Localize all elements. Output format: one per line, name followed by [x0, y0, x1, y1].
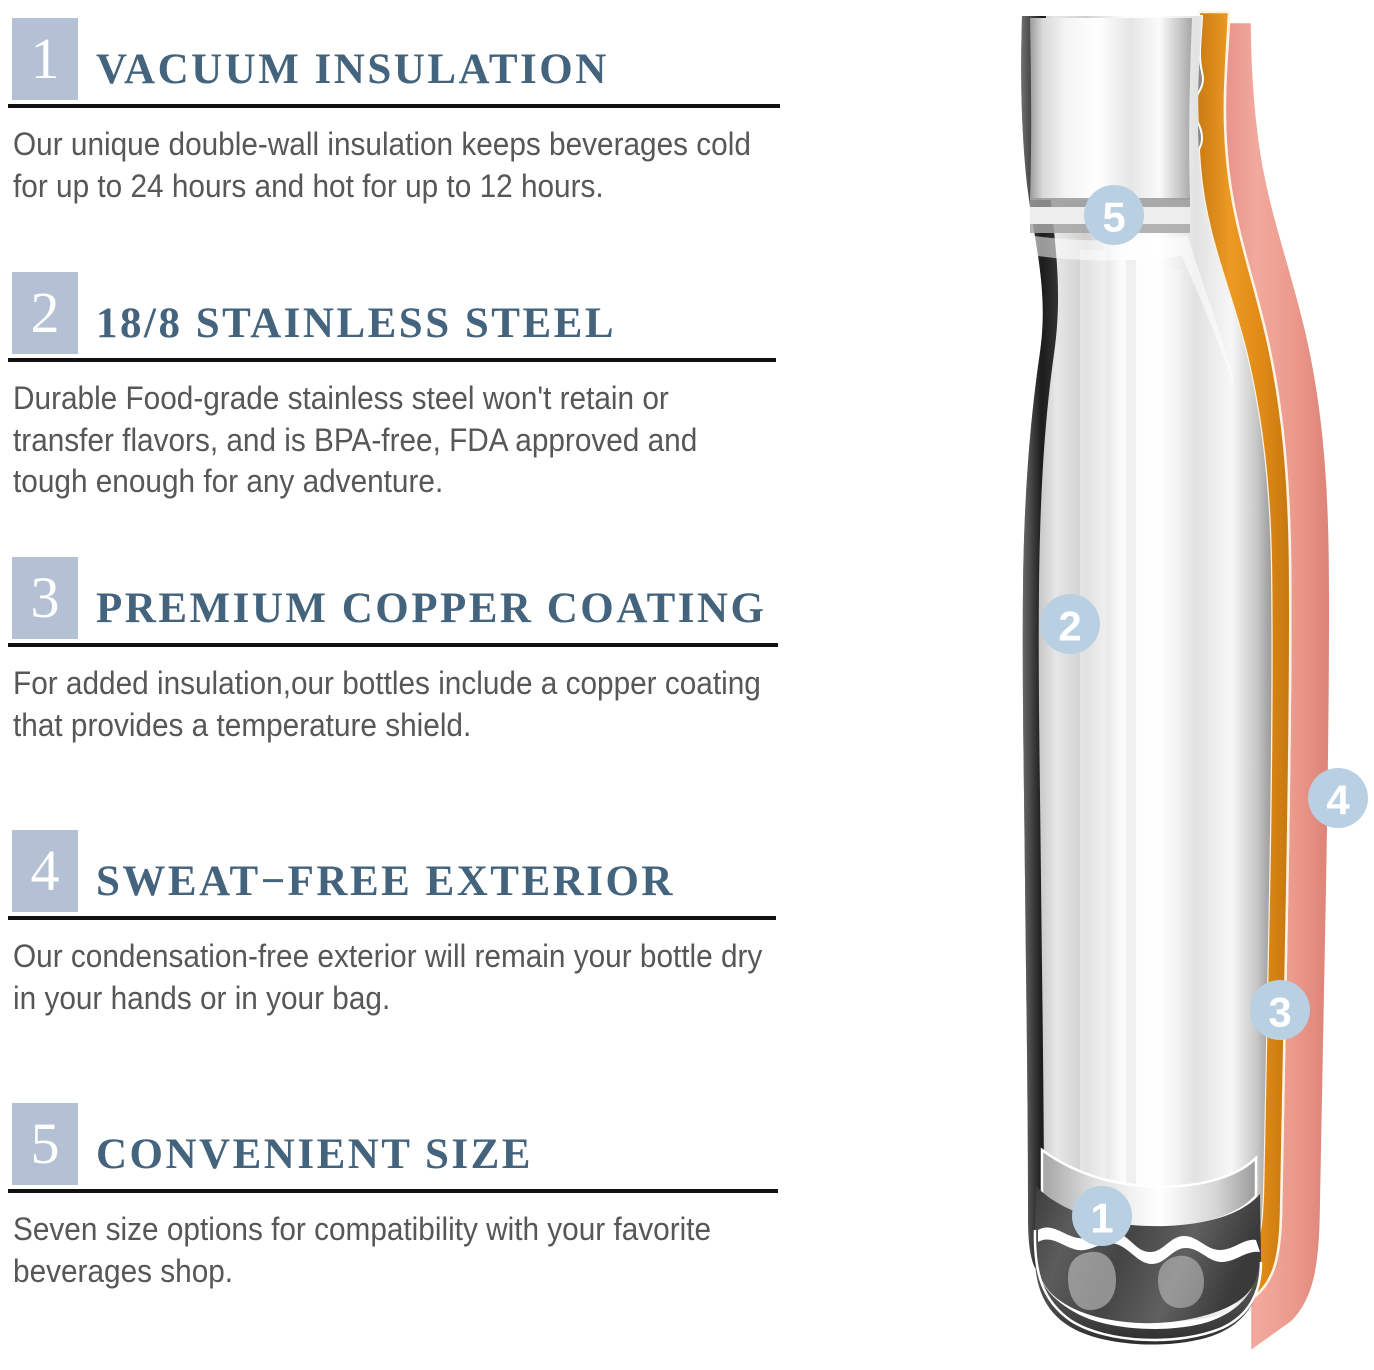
body-reflections: [1080, 250, 1182, 1260]
feature-number-badge-4: 4: [12, 830, 78, 912]
callout-badge-3[interactable]: 3: [1250, 980, 1310, 1040]
feature-body-3: For added insulation,our bottles include…: [0, 647, 776, 746]
feature-header-3: 3 PREMIUM COPPER COATING: [0, 557, 880, 639]
feature-item-4: 4 SWEAT−FREE EXTERIOR Our condensation-f…: [0, 830, 880, 1019]
feature-number-badge-5: 5: [12, 1103, 78, 1185]
callout-badge-1-label: 1: [1090, 1195, 1113, 1242]
feature-title-4: SWEAT−FREE EXTERIOR: [78, 857, 675, 912]
callout-badge-3-label: 3: [1268, 989, 1291, 1036]
callout-badge-2-label: 2: [1058, 603, 1081, 650]
feature-item-1: 1 VACUUM INSULATION Our unique double-wa…: [0, 18, 880, 207]
feature-item-2: 2 18/8 STAINLESS STEEL Durable Food-grad…: [0, 272, 880, 503]
callout-badge-5[interactable]: 5: [1084, 185, 1144, 245]
feature-header-2: 2 18/8 STAINLESS STEEL: [0, 272, 880, 354]
feature-list: 1 VACUUM INSULATION Our unique double-wa…: [0, 0, 880, 1370]
feature-header-4: 4 SWEAT−FREE EXTERIOR: [0, 830, 880, 912]
feature-number-badge-1: 1: [12, 18, 78, 100]
feature-number-badge-3: 3: [12, 557, 78, 639]
feature-body-4: Our condensation-free exterior will rema…: [0, 920, 776, 1019]
feature-title-3: PREMIUM COPPER COATING: [78, 584, 767, 639]
feature-header-1: 1 VACUUM INSULATION: [0, 18, 880, 100]
feature-body-2: Durable Food-grade stainless steel won't…: [0, 362, 776, 503]
feature-body-1: Our unique double-wall insulation keeps …: [0, 108, 776, 207]
callout-badge-4-label: 4: [1326, 777, 1350, 824]
feature-title-2: 18/8 STAINLESS STEEL: [78, 299, 616, 354]
callout-badge-4[interactable]: 4: [1308, 768, 1368, 828]
callout-badge-1[interactable]: 1: [1072, 1186, 1132, 1246]
callout-badge-5-label: 5: [1102, 194, 1125, 241]
feature-header-5: 5 CONVENIENT SIZE: [0, 1103, 880, 1185]
feature-body-5: Seven size options for compatibility wit…: [0, 1193, 776, 1292]
feature-item-3: 3 PREMIUM COPPER COATING For added insul…: [0, 557, 880, 746]
bottle-cutaway-illustration: 5 2 4 3 1: [930, 0, 1374, 1370]
feature-title-1: VACUUM INSULATION: [78, 45, 609, 100]
feature-title-5: CONVENIENT SIZE: [78, 1130, 533, 1185]
feature-item-5: 5 CONVENIENT SIZE Seven size options for…: [0, 1103, 880, 1292]
product-feature-infographic: 1 VACUUM INSULATION Our unique double-wa…: [0, 0, 1374, 1370]
bottle-neck: [1030, 18, 1192, 200]
callout-badge-2[interactable]: 2: [1040, 594, 1100, 654]
feature-number-badge-2: 2: [12, 272, 78, 354]
